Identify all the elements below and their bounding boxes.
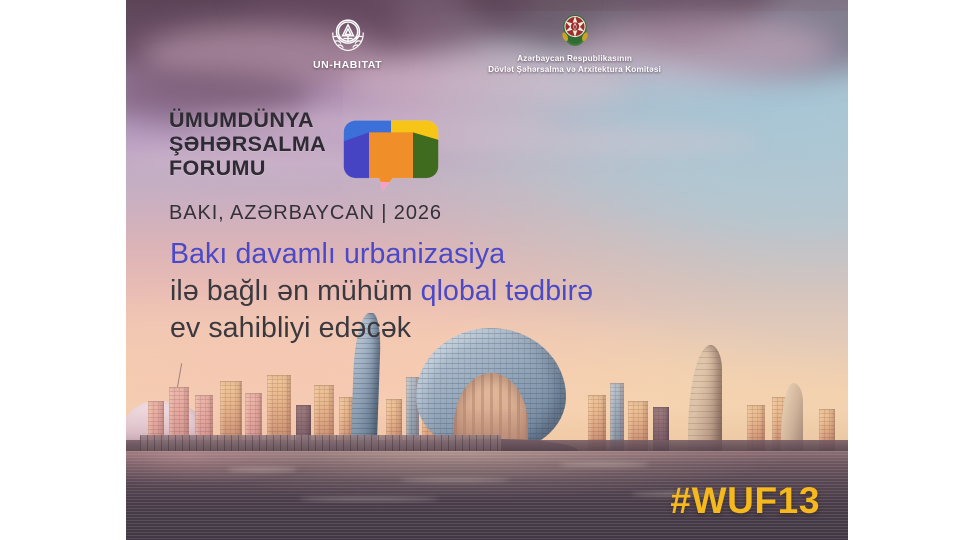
wuf-title-line3: FORUMU [169,156,326,180]
flame-tower [688,345,722,453]
headline-line-2-plain: ilə bağlı ən mühüm [170,275,421,307]
headline-text: Bakı davamlı urbanizasiya ilə bağlı ən m… [170,236,730,347]
az-label-line2: Dövlət Şəhərsalma və Arxitektura Komitəs… [488,64,661,75]
azerbaijan-state-emblem-icon [557,10,593,48]
screenshot-canvas: UN-HABITAT [0,0,975,540]
wuf-subtitle: BAKI, AZƏRBAYCAN | 2026 [169,202,442,225]
headline-line-1: Bakı davamlı urbanizasiya [170,236,730,273]
wuf-title-line1: ÜMUMDÜNYA [169,108,326,132]
wuf-cube-speech-bubble-icon [340,107,442,195]
un-habitat-emblem-icon [325,10,371,56]
partner-logos-header: UN-HABITAT [126,10,848,80]
un-habitat-label: UN-HABITAT [313,59,382,71]
headline-line-2: ilə bağlı ən mühüm qlobal tədbirə [170,273,730,310]
wuf-title-line2: ŞƏHƏRSALMA [169,132,326,156]
wuf-title: ÜMUMDÜNYA ŞƏHƏRSALMA FORUMU [169,108,326,180]
azerbaijan-committee-label: Azərbaycan Respublikasının Dövlət Şəhərs… [488,53,661,75]
wuf-logo-lockup: ÜMUMDÜNYA ŞƏHƏRSALMA FORUMU [169,108,442,225]
azerbaijan-committee-logo: Azərbaycan Respublikasının Dövlət Şəhərs… [488,10,661,75]
hashtag-wuf13: #WUF13 [670,480,820,522]
headline-line-3: ev sahibliyi edəcək [170,310,730,347]
headline-line-2-accent: qlobal tədbirə [421,275,594,307]
un-habitat-logo: UN-HABITAT [313,10,382,71]
az-label-line1: Azərbaycan Respublikasının [488,53,661,64]
wuf13-promo-poster: UN-HABITAT [126,0,848,540]
